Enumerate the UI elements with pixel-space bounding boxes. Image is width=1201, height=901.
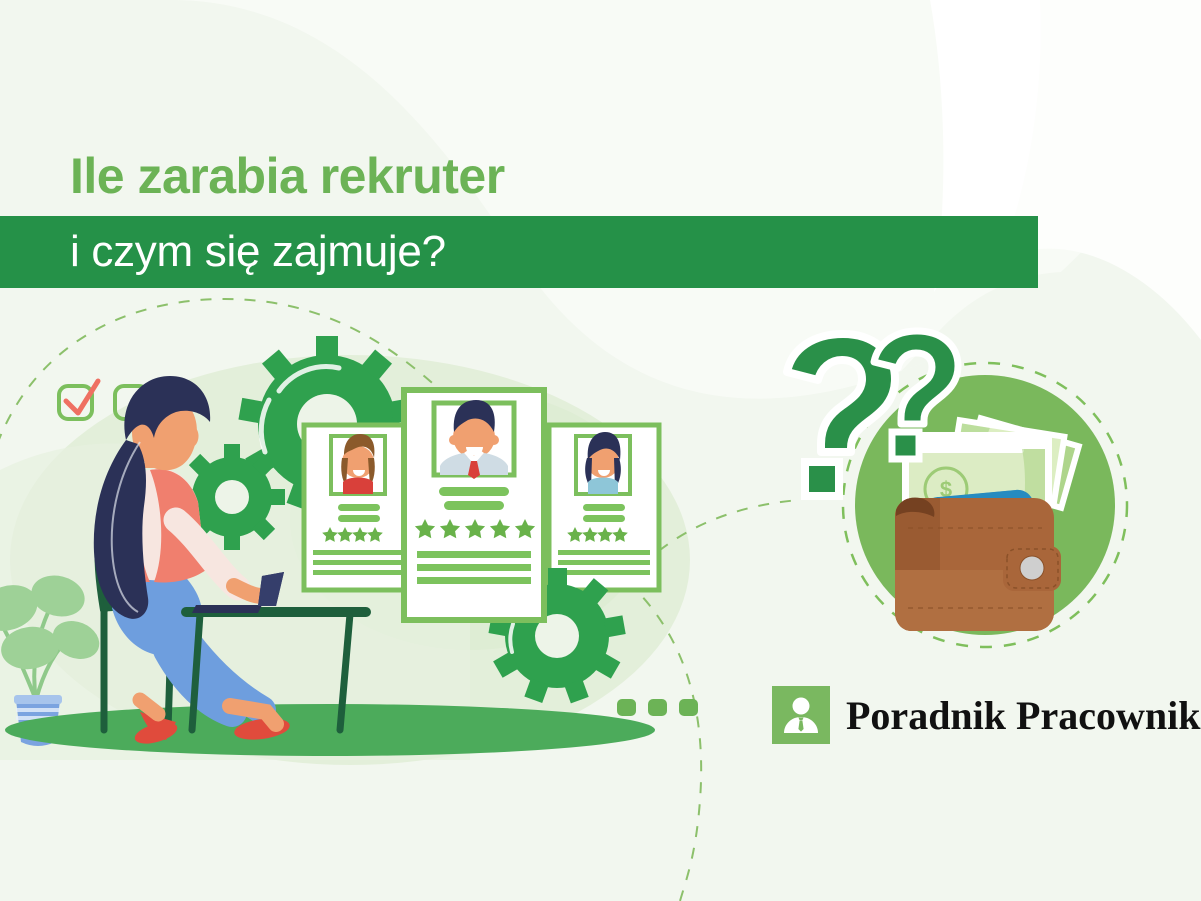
resume-card-right[interactable] [549,425,659,590]
checkbox-checked[interactable] [59,381,98,419]
illustration: $ CREDIT CARD [0,0,1201,901]
brand-name: Poradnik Pracownika [846,692,1201,739]
avatar-woman-dark-hair [585,432,621,494]
dots-indicator [617,699,698,716]
hero-heading: Ile zarabia rekruter i czym się zajmuje? [0,148,1201,288]
hero-banner: $ CREDIT CARD [0,0,1201,901]
resume-card-left[interactable] [304,425,414,590]
heading-highlight-bar: i czym się zajmuje? [0,216,1038,288]
person-tie-icon [772,686,830,744]
heading-line-2: i czym się zajmuje? [70,227,446,277]
resume-card-center[interactable] [404,390,544,620]
heading-line-1: Ile zarabia rekruter [70,148,1201,204]
brand-logo[interactable]: Poradnik Pracownika [772,686,1201,744]
